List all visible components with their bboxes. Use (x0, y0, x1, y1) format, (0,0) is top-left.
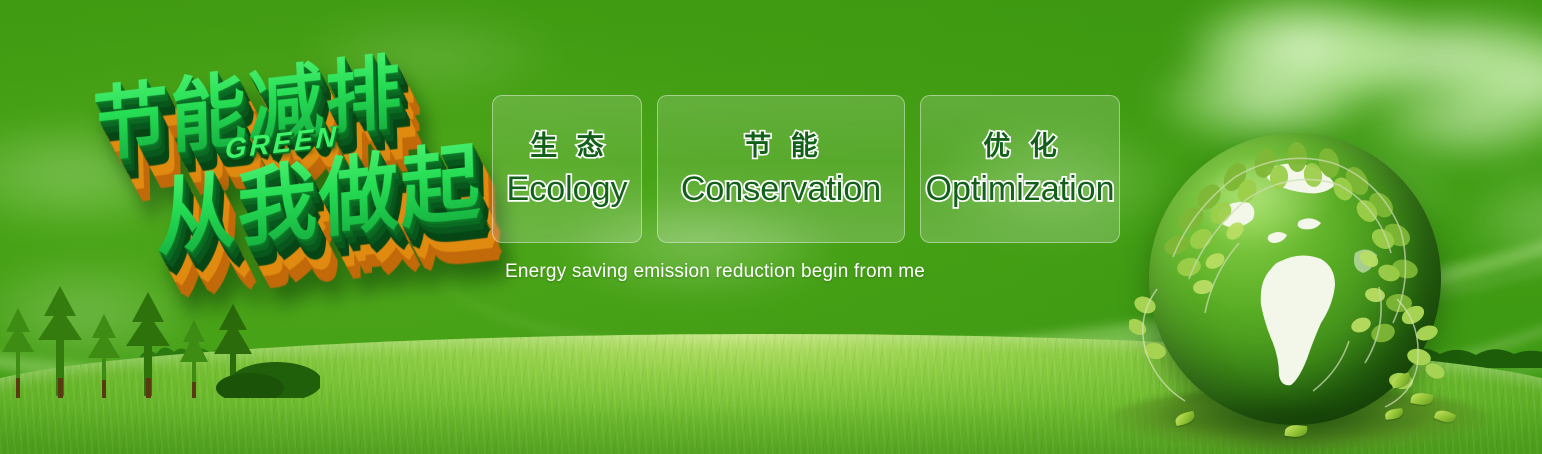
card-title-en: Ecology (507, 172, 628, 206)
tagline: Energy saving emission reduction begin f… (505, 261, 925, 283)
pine-tree-cluster (0, 278, 320, 398)
card-title-cn: 生 态 (524, 133, 610, 160)
eco-banner: 节能减排 GREEN 从我做起 生 态 Ecology 节 能 Conserva… (0, 0, 1542, 454)
card-title-en: Optimization (926, 172, 1115, 206)
feature-card-conservation[interactable]: 节 能 Conservation (657, 95, 905, 243)
card-title-en: Conservation (681, 172, 881, 206)
feature-card-ecology[interactable]: 生 态 Ecology (492, 95, 642, 243)
card-title-cn: 优 化 (977, 133, 1063, 160)
feature-card-group: 生 态 Ecology 节 能 Conservation 优 化 Optimiz… (492, 95, 1120, 243)
feature-card-optimization[interactable]: 优 化 Optimization (920, 95, 1120, 243)
headline-logo: 节能减排 GREEN 从我做起 (80, 12, 505, 296)
ivy-globe (1135, 125, 1455, 445)
card-title-cn: 节 能 (738, 133, 824, 160)
